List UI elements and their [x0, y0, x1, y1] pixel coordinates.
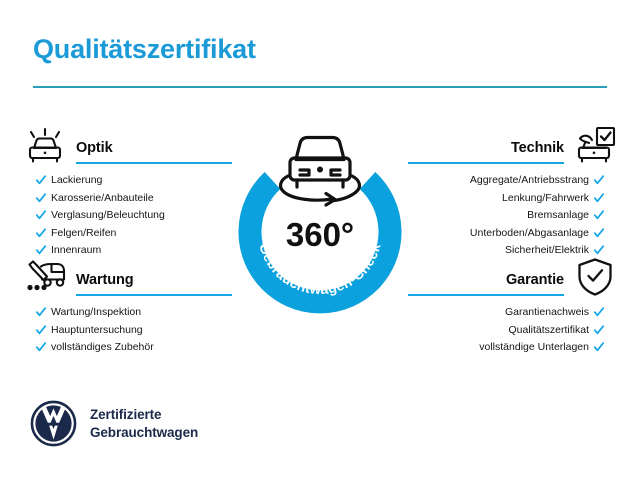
check-icon	[36, 245, 46, 255]
check-icon	[36, 325, 46, 335]
section-wartung-title: Wartung	[76, 273, 232, 289]
list-item: Unterboden/Abgasanlage	[408, 228, 604, 239]
check-icon	[594, 245, 604, 255]
check-icon	[36, 210, 46, 220]
section-garantie: Garantie Garantienachweis Qualitätszerti…	[408, 256, 618, 360]
list-item: Aggregate/Antriebsstrang	[408, 175, 604, 186]
list-item-label: Aggregate/Antriebsstrang	[470, 175, 589, 186]
list-item: Lenkung/Fahrwerk	[408, 193, 604, 204]
list-item: Sicherheit/Elektrik	[408, 245, 604, 256]
car-checkbox-icon	[572, 124, 618, 166]
car-polish-icon	[22, 124, 68, 166]
section-wartung-underline	[76, 294, 232, 296]
list-item: Wartung/Inspektion	[36, 307, 232, 318]
check-icon	[594, 175, 604, 185]
vw-branding-line2: Gebrauchtwagen	[90, 424, 198, 441]
list-item-label: Lackierung	[51, 175, 102, 186]
check-icon	[36, 193, 46, 203]
check-icon	[36, 342, 46, 352]
list-item: Qualitätszertifikat	[408, 325, 604, 336]
section-garantie-title: Garantie	[408, 273, 564, 289]
list-item: Felgen/Reifen	[36, 228, 232, 239]
section-technik-title-wrap: Technik	[408, 141, 564, 166]
car-rotate-360-icon	[281, 138, 360, 206]
list-item: Hauptuntersuchung	[36, 325, 232, 336]
section-technik-title: Technik	[408, 141, 564, 157]
list-item: Innenraum	[36, 245, 232, 256]
section-wartung: Wartung Wartung/Inspektion Hauptuntersuc…	[22, 256, 232, 360]
list-item-label: Innenraum	[51, 245, 101, 256]
shield-check-icon	[572, 256, 618, 298]
check-icon	[594, 342, 604, 352]
section-optik-list: Lackierung Karosserie/Anbauteile Verglas…	[22, 175, 232, 256]
vw-branding-text: Zertifizierte Gebrauchtwagen	[90, 406, 198, 441]
list-item: vollständiges Zubehör	[36, 342, 232, 353]
section-wartung-list: Wartung/Inspektion Hauptuntersuchung vol…	[22, 307, 232, 353]
list-item: Lackierung	[36, 175, 232, 186]
page-title: Qualitätszertifikat	[33, 34, 256, 65]
list-item: Verglasung/Beleuchtung	[36, 210, 232, 221]
check-icon	[594, 210, 604, 220]
vw-logo-icon	[30, 400, 77, 447]
section-optik-underline	[76, 162, 232, 164]
list-item-label: Hauptuntersuchung	[51, 325, 143, 336]
list-item-label: Unterboden/Abgasanlage	[470, 228, 589, 239]
section-technik: Technik Aggregate/Antriebsstrang Lenkung…	[408, 124, 618, 263]
vw-branding-line1: Zertifizierte	[90, 406, 198, 423]
check-icon	[594, 325, 604, 335]
section-optik-header: Optik	[22, 124, 232, 166]
badge-360-gebrauchtwagen-check: 360° Gebrauchtwagen-Check	[236, 118, 404, 314]
list-item-label: Wartung/Inspektion	[51, 307, 141, 318]
list-item: Karosserie/Anbauteile	[36, 193, 232, 204]
list-item-label: Felgen/Reifen	[51, 228, 116, 239]
list-item-label: Garantienachweis	[505, 307, 589, 318]
check-icon	[36, 307, 46, 317]
list-item: vollständige Unterlagen	[408, 342, 604, 353]
car-service-icon	[22, 256, 68, 298]
list-item-label: Karosserie/Anbauteile	[51, 193, 154, 204]
check-icon	[36, 228, 46, 238]
section-garantie-title-wrap: Garantie	[408, 273, 564, 298]
section-garantie-underline	[408, 294, 564, 296]
check-icon	[594, 193, 604, 203]
section-optik-title-wrap: Optik	[76, 141, 232, 166]
check-icon	[594, 307, 604, 317]
section-garantie-list: Garantienachweis Qualitätszertifikat vol…	[408, 307, 618, 353]
section-technik-header: Technik	[408, 124, 618, 166]
header-divider	[33, 86, 607, 88]
section-optik-title: Optik	[76, 141, 232, 157]
list-item-label: Bremsanlage	[527, 210, 589, 221]
section-wartung-title-wrap: Wartung	[76, 273, 232, 298]
list-item: Garantienachweis	[408, 307, 604, 318]
list-item-label: Qualitätszertifikat	[508, 325, 589, 336]
section-technik-list: Aggregate/Antriebsstrang Lenkung/Fahrwer…	[408, 175, 618, 256]
list-item-label: Lenkung/Fahrwerk	[502, 193, 589, 204]
list-item-label: Verglasung/Beleuchtung	[51, 210, 165, 221]
section-technik-underline	[408, 162, 564, 164]
section-wartung-header: Wartung	[22, 256, 232, 298]
footer-vw-branding: Zertifizierte Gebrauchtwagen	[30, 400, 198, 447]
section-optik: Optik Lackierung Karosserie/Anbauteile V…	[22, 124, 232, 263]
check-icon	[594, 228, 604, 238]
list-item-label: vollständige Unterlagen	[479, 342, 589, 353]
quality-certificate-page: Qualitätszertifikat Optik	[0, 0, 640, 480]
section-garantie-header: Garantie	[408, 256, 618, 298]
list-item-label: Sicherheit/Elektrik	[505, 245, 589, 256]
list-item-label: vollständiges Zubehör	[51, 342, 154, 353]
list-item: Bremsanlage	[408, 210, 604, 221]
badge-center-label: 360°	[286, 216, 354, 253]
check-icon	[36, 175, 46, 185]
